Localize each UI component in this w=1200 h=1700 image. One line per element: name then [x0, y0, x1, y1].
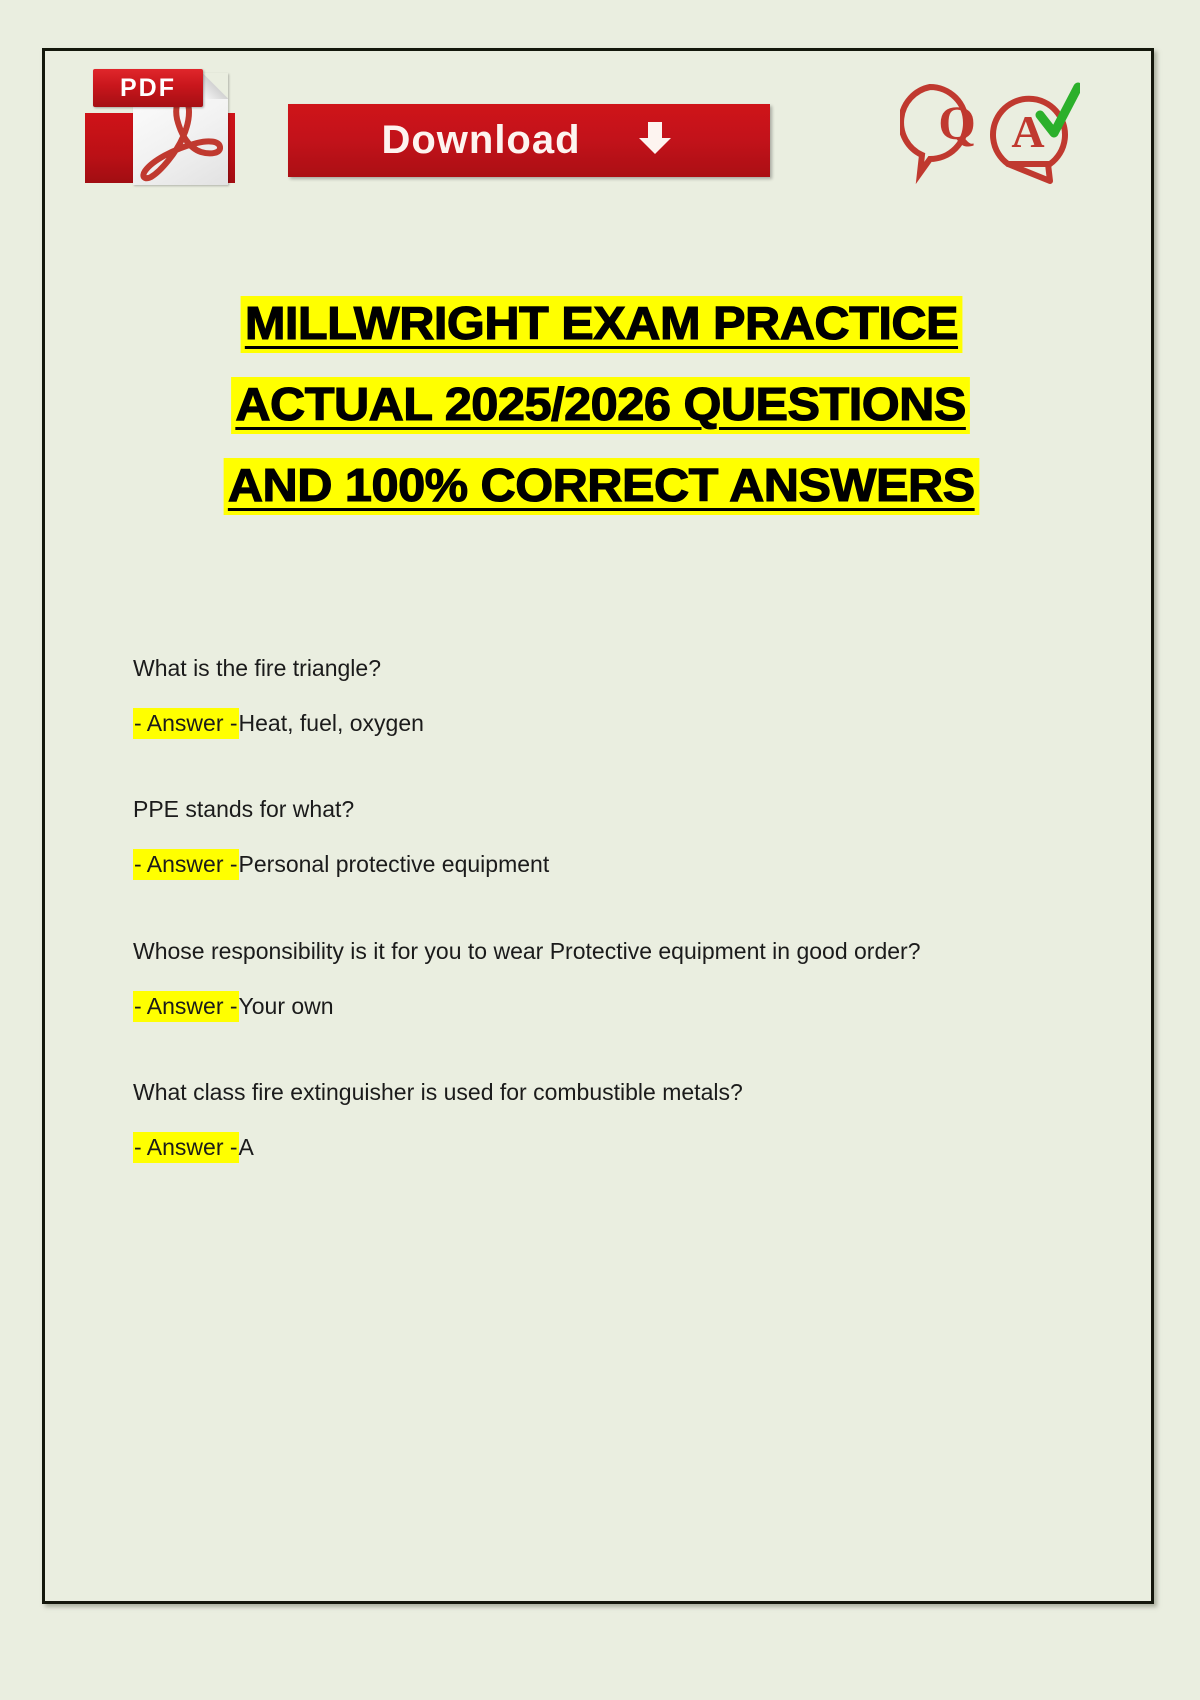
title-line-1-text: MILLWRIGHT EXAM PRACTICE: [240, 296, 962, 353]
svg-text:Q: Q: [938, 97, 975, 150]
answer-tag: - Answer -: [133, 849, 239, 880]
qa-answer: - Answer -Personal protective equipment: [133, 847, 1063, 882]
qa-item: Whose responsibility is it for you to we…: [133, 934, 1063, 1023]
title-line-2: ACTUAL 2025/2026 QUESTIONS: [45, 377, 1157, 434]
qa-question: Whose responsibility is it for you to we…: [133, 934, 1008, 969]
page-canvas: PDF Download Q A: [0, 0, 1200, 1700]
qa-answer: - Answer -Your own: [133, 989, 1063, 1024]
title-line-3: AND 100% CORRECT ANSWERS: [45, 458, 1157, 515]
qa-question: What is the fire triangle?: [133, 651, 1008, 686]
title-line-3-text: AND 100% CORRECT ANSWERS: [223, 458, 978, 515]
pdf-icon-label: PDF: [120, 74, 176, 103]
pdf-file-icon[interactable]: PDF: [85, 59, 233, 187]
answer-text: Personal protective equipment: [239, 851, 550, 877]
answer-tag: - Answer -: [133, 708, 239, 739]
title-line-1: MILLWRIGHT EXAM PRACTICE: [45, 296, 1157, 353]
answer-text: Heat, fuel, oxygen: [239, 710, 424, 736]
qa-list: What is the fire triangle? - Answer -Hea…: [133, 651, 1063, 1217]
qa-item: What is the fire triangle? - Answer -Hea…: [133, 651, 1063, 740]
answer-text: A: [239, 1134, 254, 1160]
download-button-label: Download: [381, 118, 580, 163]
answer-tag: - Answer -: [133, 1132, 239, 1163]
qa-answer: - Answer -Heat, fuel, oxygen: [133, 706, 1063, 741]
pdf-icon-badge: PDF: [93, 69, 203, 107]
qa-item: What class fire extinguisher is used for…: [133, 1075, 1063, 1164]
qa-answer: - Answer -A: [133, 1130, 1063, 1165]
download-button[interactable]: Download: [288, 104, 770, 177]
title-line-2-text: ACTUAL 2025/2026 QUESTIONS: [231, 377, 970, 434]
document-sheet: PDF Download Q A: [42, 48, 1154, 1604]
answer-text: Your own: [239, 993, 334, 1019]
answer-tag: - Answer -: [133, 991, 239, 1022]
qa-item: PPE stands for what? - Answer -Personal …: [133, 792, 1063, 881]
page-title: MILLWRIGHT EXAM PRACTICE ACTUAL 2025/202…: [45, 296, 1157, 539]
qa-question: PPE stands for what?: [133, 792, 1008, 827]
qa-question: What class fire extinguisher is used for…: [133, 1075, 1008, 1110]
qa-speech-bubbles-icon: Q A: [900, 69, 1080, 189]
header-row: PDF Download Q A: [45, 51, 1157, 201]
download-arrow-icon: [633, 116, 677, 165]
